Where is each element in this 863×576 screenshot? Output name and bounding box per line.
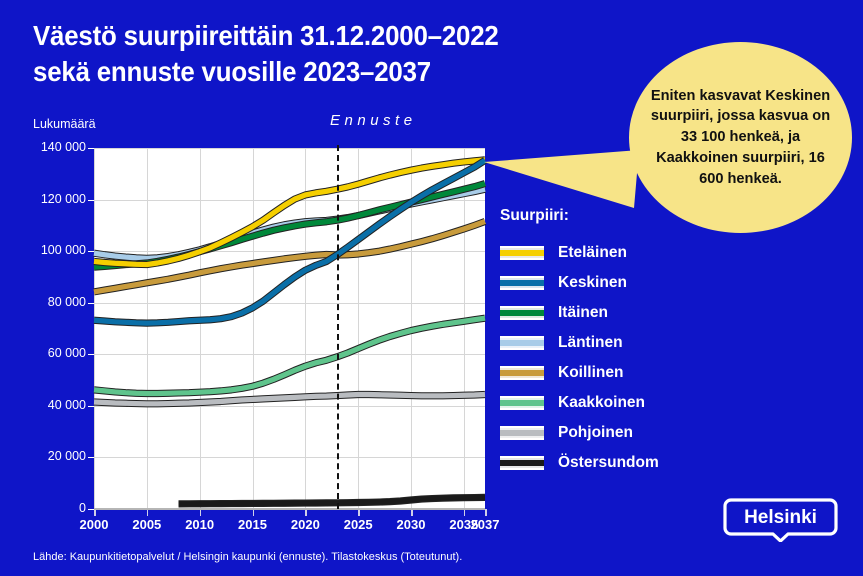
legend-item-label: Kaakkoinen	[558, 394, 645, 412]
x-tick-mark	[200, 509, 202, 516]
x-tick-label: 2000	[64, 517, 124, 532]
y-tick-label: 80 000	[20, 295, 86, 309]
legend-item-läntinen[interactable]: Läntinen	[500, 328, 740, 358]
y-tick-label: 140 000	[20, 140, 86, 154]
x-tick-label: 2037	[455, 517, 515, 532]
legend-swatch-icon	[500, 366, 544, 380]
y-tick-label: 40 000	[20, 398, 86, 412]
legend-swatch-icon	[500, 426, 544, 440]
helsinki-logo-shape: Helsinki	[722, 497, 839, 542]
series-line-eteläinen	[94, 160, 485, 265]
legend-item-östersundom[interactable]: Östersundom	[500, 448, 740, 478]
x-tick-label: 2025	[328, 517, 388, 532]
legend-swatch-icon	[500, 306, 544, 320]
y-tick-label: 100 000	[20, 243, 86, 257]
legend-item-label: Keskinen	[558, 274, 627, 292]
legend-swatch-icon	[500, 456, 544, 470]
legend-item-label: Itäinen	[558, 304, 608, 322]
legend-item-label: Eteläinen	[558, 244, 627, 262]
y-tick-label: 120 000	[20, 192, 86, 206]
legend-item-label: Pohjoinen	[558, 424, 633, 442]
forecast-annotation: Ennuste	[330, 112, 417, 129]
x-tick-label: 2015	[223, 517, 283, 532]
forecast-divider-line	[337, 145, 339, 509]
page-title: Väestö suurpiireittäin 31.12.2000–2022 s…	[33, 18, 635, 90]
x-tick-mark	[411, 509, 413, 516]
x-tick-mark	[358, 509, 360, 516]
legend-swatch-icon	[500, 336, 544, 350]
x-tick-label: 2020	[275, 517, 335, 532]
infographic-root: Väestö suurpiireittäin 31.12.2000–2022 s…	[0, 0, 863, 576]
chart-plot-area	[94, 148, 485, 509]
legend-title: Suurpiiri:	[500, 207, 740, 225]
legend-rows: EteläinenKeskinenItäinenLäntinenKoilline…	[500, 238, 740, 478]
callout-bubble: Eniten kasvavat Keskinen suurpiiri, joss…	[629, 42, 852, 233]
helsinki-logo-text: Helsinki	[744, 507, 817, 528]
x-tick-mark	[464, 509, 466, 516]
x-tick-label: 2030	[381, 517, 441, 532]
y-tick-label: 20 000	[20, 449, 86, 463]
x-tick-mark	[253, 509, 255, 516]
legend-item-keskinen[interactable]: Keskinen	[500, 268, 740, 298]
series-lines	[94, 148, 485, 509]
series-outline-eteläinen	[94, 160, 485, 265]
legend: Suurpiiri: EteläinenKeskinenItäinenLänti…	[500, 207, 740, 478]
x-tick-mark	[485, 509, 487, 516]
legend-item-kaakkoinen[interactable]: Kaakkoinen	[500, 388, 740, 418]
legend-item-label: Koillinen	[558, 364, 623, 382]
x-tick-mark	[147, 509, 149, 516]
y-tick-label: 0	[20, 501, 86, 515]
x-tick-mark	[94, 509, 96, 516]
y-tick-label: 60 000	[20, 346, 86, 360]
legend-item-pohjoinen[interactable]: Pohjoinen	[500, 418, 740, 448]
series-line-kaakkoinen	[94, 318, 485, 393]
x-tick-mark	[305, 509, 307, 516]
legend-item-eteläinen[interactable]: Eteläinen	[500, 238, 740, 268]
helsinki-logo: Helsinki	[722, 497, 839, 542]
legend-item-koillinen[interactable]: Koillinen	[500, 358, 740, 388]
legend-swatch-icon	[500, 246, 544, 260]
source-footer: Lähde: Kaupunkitietopalvelut / Helsingin…	[33, 551, 462, 563]
x-tick-label: 2010	[170, 517, 230, 532]
legend-item-label: Östersundom	[558, 454, 659, 472]
legend-swatch-icon	[500, 276, 544, 290]
legend-item-label: Läntinen	[558, 334, 623, 352]
y-axis-label: Lukumäärä	[33, 117, 96, 131]
legend-item-itäinen[interactable]: Itäinen	[500, 298, 740, 328]
callout-text: Eniten kasvavat Keskinen suurpiiri, joss…	[629, 86, 852, 190]
x-tick-label: 2005	[117, 517, 177, 532]
legend-swatch-icon	[500, 396, 544, 410]
